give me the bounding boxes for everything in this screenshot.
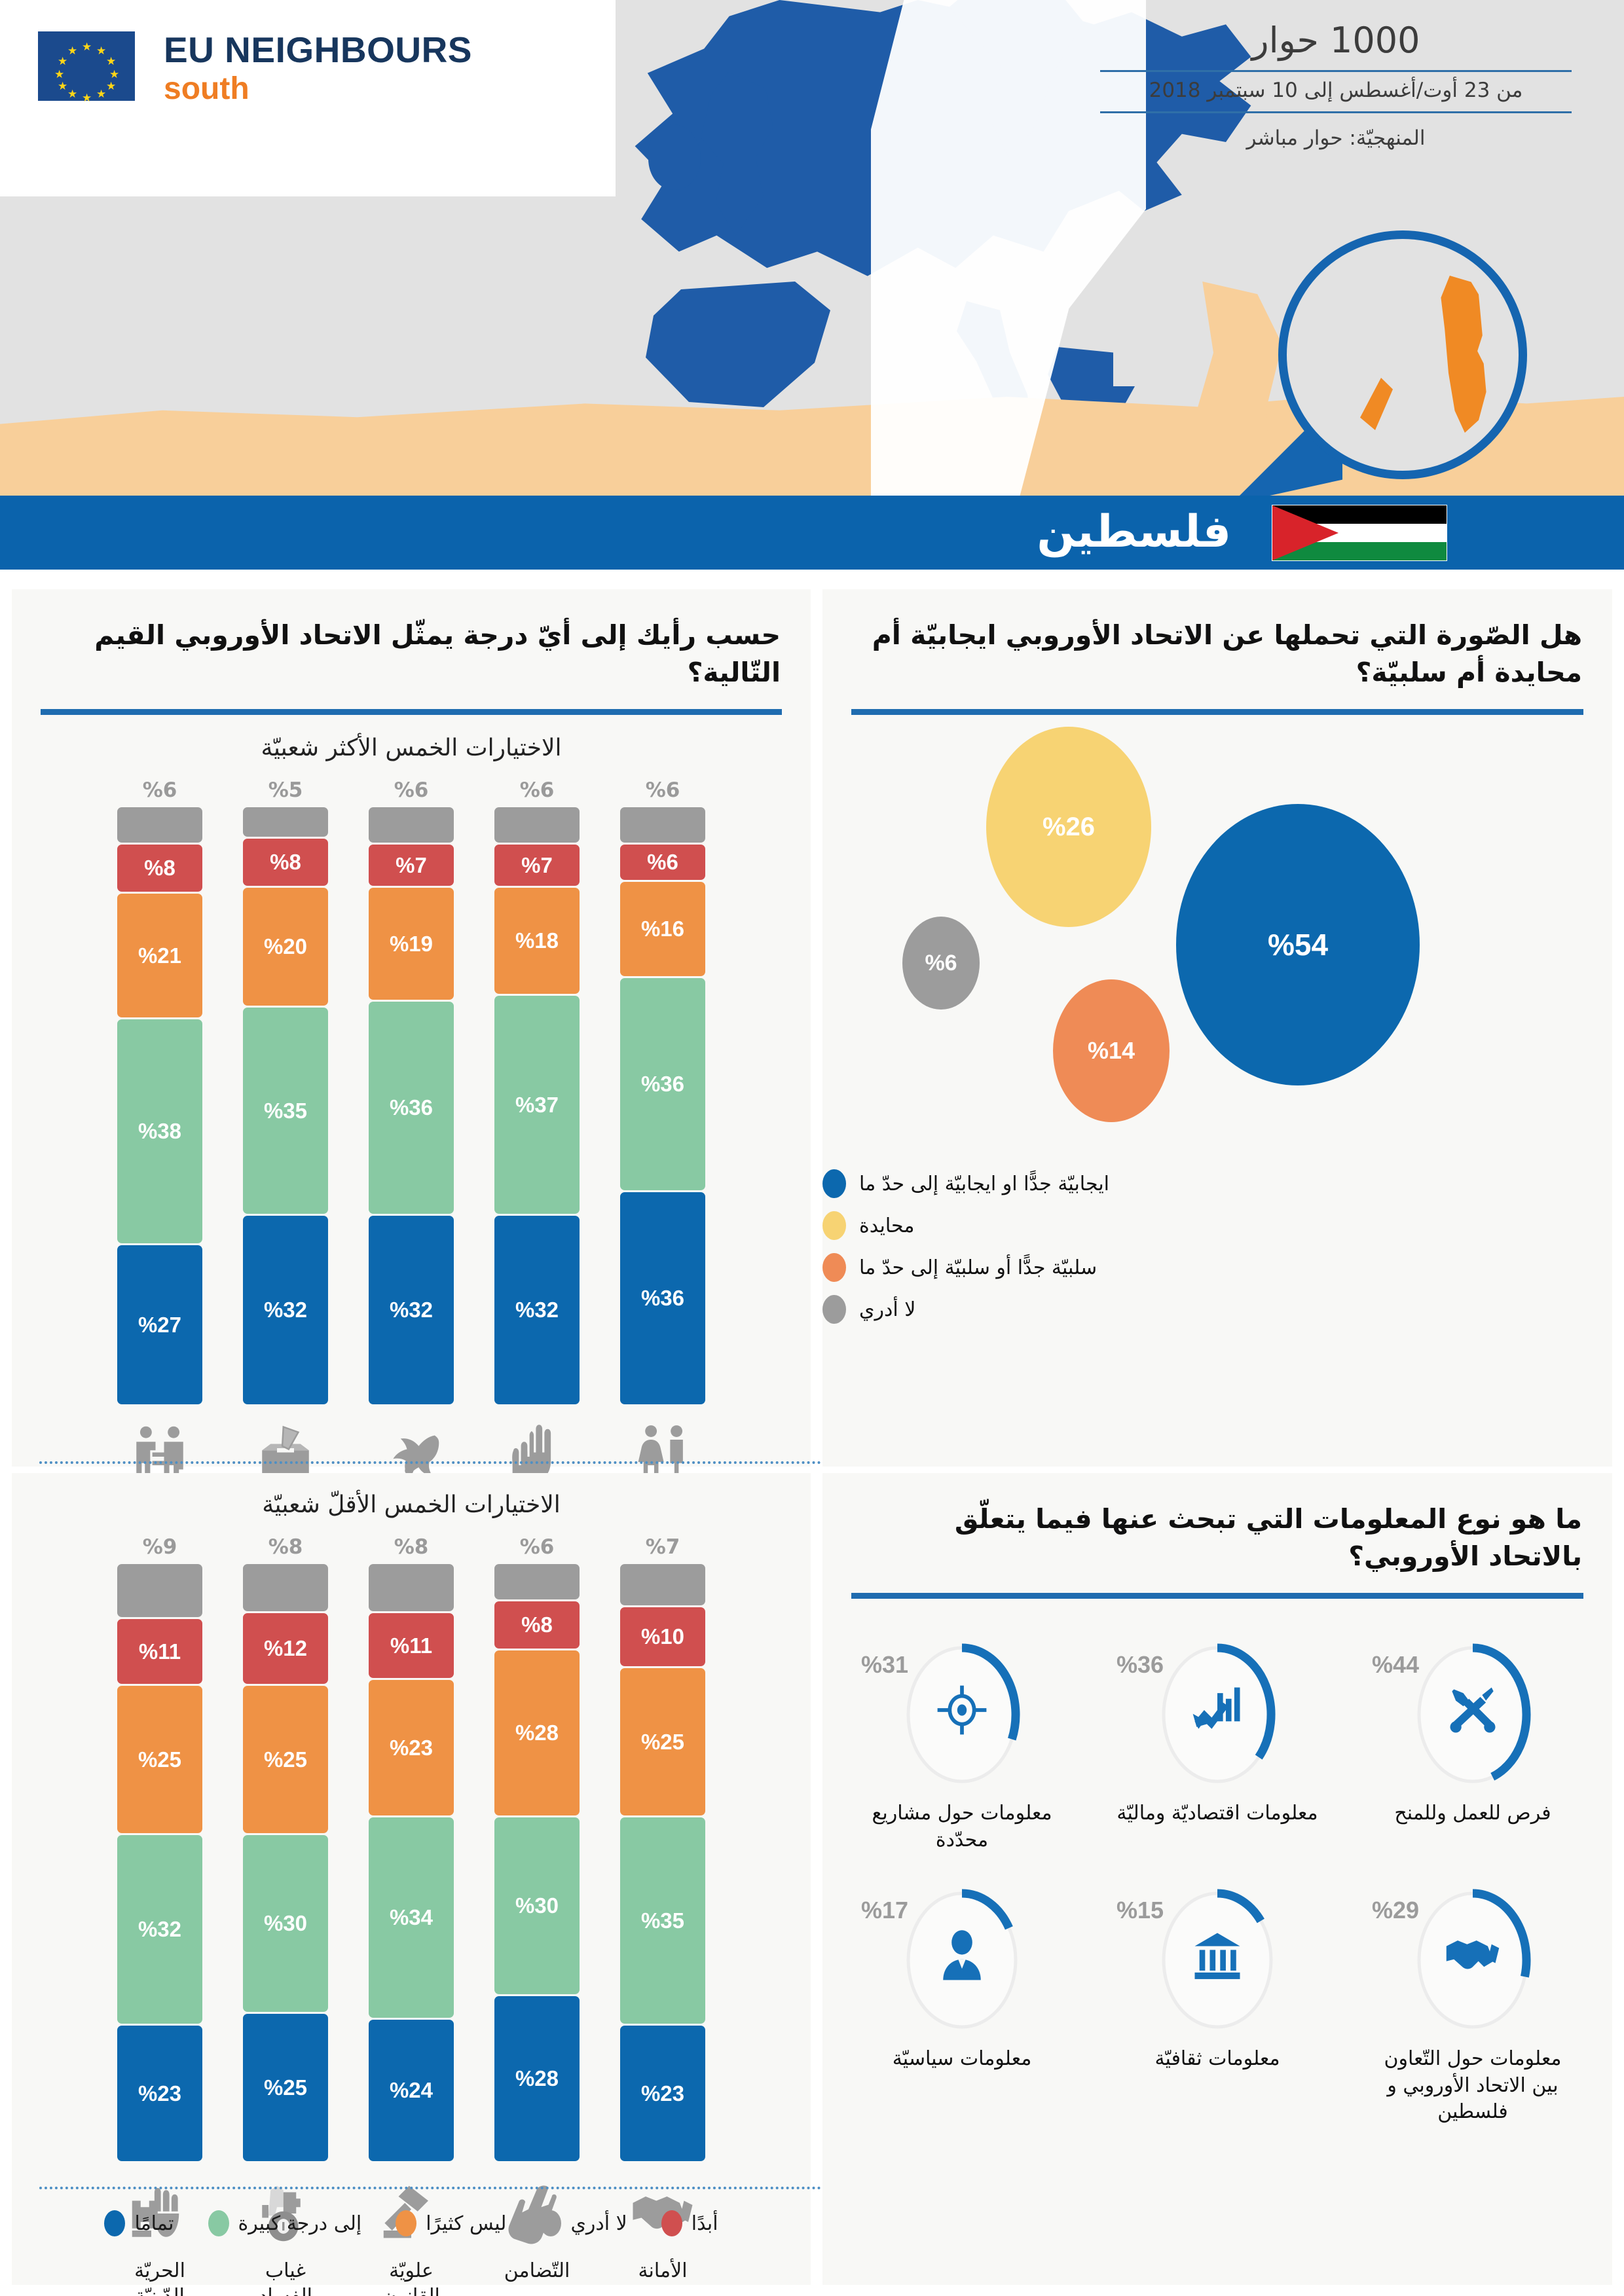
header-map-banner: ★ ★ ★ ★ ★ ★ ★ ★ ★ ★ ★ ★ EU NEIGHBOURS so… [0,0,1624,498]
gauge-percent-label: %15 [1116,1897,1164,1924]
bar-stack: %10%25%35%23 [620,1564,705,2161]
category-label: علويّة القانون [369,2258,454,2296]
bar-segment: %25 [243,1686,328,1833]
gauge-percent-label: %31 [861,1651,908,1679]
legend-item: إلى درجة كبيرة [208,2210,362,2236]
legend-item: أبدًا [661,2210,718,2236]
bar-column: %7%10%25%35%23 [620,1535,705,2161]
bar-top-percent-label: %9 [143,1535,177,1559]
category-cell: غياب الفساد [243,2179,328,2296]
eu-flag-icon: ★ ★ ★ ★ ★ ★ ★ ★ ★ ★ ★ ★ [38,31,135,101]
gauge-category-label: معلومات سياسيّة [893,2046,1032,2073]
bar-segment [243,807,328,837]
brand-subtitle: south [164,71,249,107]
legend-item: لا أدري [540,2210,627,2236]
gauge-category-label: معلومات حول مشاريع محدّدة [857,1800,1067,1853]
legend-label: أبدًا [692,2212,718,2235]
bar-segment: %32 [117,1835,202,2024]
bar-stack: %11%23%34%24 [369,1564,454,2161]
bar-segment: %18 [494,888,580,994]
bar-column: %8%12%25%30%25 [243,1535,328,2161]
bar-segment: %37 [494,996,580,1214]
gauge-percent-label: %44 [1372,1651,1419,1679]
legend-color-dot [822,1295,846,1324]
gauge-category-label: فرص للعمل وللمنح [1394,1800,1551,1827]
divider [851,709,1583,715]
legend-container: تمامًاإلى درجة كبيرةليس كثيرًالا أدريأبد… [12,2206,811,2236]
legend-color-dot [208,2210,229,2236]
legend-color-dot [822,1253,846,1282]
bar-stack: %8%20%35%32 [243,807,328,1404]
bar-segment: %34 [369,1817,454,2018]
bar-segment [243,1564,328,1611]
bar-segment: %23 [369,1680,454,1815]
bubble-value-label: %6 [925,951,957,976]
bar-chart-legend: تمامًاإلى درجة كبيرةليس كثيرًالا أدريأبد… [12,2206,811,2236]
legend-color-dot [661,2210,682,2236]
bar-segment [369,1564,454,1611]
bar-segment: %35 [620,1817,705,2024]
bar-segment: %35 [243,1008,328,1214]
bar-segment: %25 [243,2014,328,2161]
country-name: فلسطين [1037,506,1231,558]
radial-gauge-grid: %31معلومات حول مشاريع محدّدة %36معلومات … [822,1599,1612,2126]
question-title-information: ما هو نوع المعلومات التي تبحث عنها فيما … [822,1473,1612,1575]
palestine-map-inset-icon [1278,230,1527,479]
bar-segment: %36 [620,978,705,1190]
panel-values-least-popular: الاختيارات الخمس الأقلّ شعبيّة %9%11%25%… [12,1473,811,2285]
gauge-percent-label: %29 [1372,1897,1419,1924]
bubble-legend-item: محايدة [822,1211,1612,1240]
legend-label: ايجابيّة جدًّا او ايجابيّة إلى حدّ ما [859,1173,1109,1195]
bar-segment: %28 [494,1650,580,1815]
bar-segment: %11 [117,1619,202,1684]
bar-top-percent-label: %6 [143,778,177,802]
bar-segment: %6 [620,845,705,880]
palestine-flag-icon [1272,505,1447,561]
bar-segment: %38 [117,1019,202,1243]
bar-segment: %19 [369,888,454,1000]
bubble-legend-item: لا أدري [822,1295,1612,1324]
bar-segment: %32 [243,1216,328,1404]
bubble-3: %14 [1053,979,1170,1122]
legend-item: تمامًا [104,2210,174,2236]
bar-top-percent-label: %5 [268,778,303,802]
bar-segment: %12 [243,1613,328,1684]
bank-icon [1119,1925,1316,1986]
bar-top-percent-label: %6 [646,778,680,802]
category-cell: علويّة القانون [369,2179,454,2296]
category-label: غياب الفساد [243,2258,328,2296]
legend-color-dot [104,2210,125,2236]
bar-stack: %6%16%36%36 [620,807,705,1404]
bar-top-percent-label: %6 [520,778,555,802]
bar-stack: %11%25%32%23 [117,1564,202,2161]
bar-segment: %30 [494,1817,580,1994]
legend-label: ليس كثيرًا [426,2212,506,2235]
bar-segment [369,807,454,843]
bar-segment [620,1564,705,1605]
handshake-icon [1375,1925,1571,1986]
bar-column: %5%8%20%35%32 [243,778,328,1404]
gauge-dial: %31 [864,1634,1060,1798]
divider [41,709,782,715]
header-stats: 1000 حوار من 23 أوت/أغسطس إلى 10 سبتمبر … [1100,20,1572,150]
bar-column: %6%7%19%36%32 [369,778,454,1404]
gauge-dial: %36 [1119,1634,1316,1798]
category-label: التّضامن [494,2258,580,2284]
gauge-cell: %36معلومات اقتصاديّة وماليّة [1113,1634,1322,1853]
category-cell: الأمانة [620,2179,705,2296]
bar-segment: %36 [369,1002,454,1214]
gauge-cell: %29معلومات حول التّعاون بين الاتحاد الأو… [1368,1880,1578,2126]
bar-segment: %32 [369,1216,454,1404]
bar-stack: %7%19%36%32 [369,807,454,1404]
subtitle-least-popular: الاختيارات الخمس الأقلّ شعبيّة [12,1473,811,1518]
bar-segment [620,807,705,843]
country-title-bar: فلسطين [0,496,1624,570]
legend-color-dot [822,1211,846,1240]
legend-label: إلى درجة كبيرة [238,2212,362,2235]
bar-top-percent-label: %6 [394,778,429,802]
bar-column: %8%11%23%34%24 [369,1535,454,2161]
bubble-4: %6 [902,917,980,1010]
bar-top-percent-label: %7 [646,1535,680,1559]
bubble-value-label: %54 [1268,927,1328,962]
divider [851,1593,1583,1599]
category-label: الأمانة [620,2258,705,2284]
bar-segment: %11 [369,1613,454,1678]
gauge-category-label: معلومات ثقافيّة [1154,2046,1280,2073]
bar-segment: %25 [117,1686,202,1833]
legend-color-dot [396,2210,416,2236]
bar-column: %6%8%28%30%28 [494,1535,580,2161]
bar-top-percent-label: %6 [520,1535,555,1559]
bar-segment: %32 [494,1216,580,1404]
bar-segment: %36 [620,1192,705,1404]
bar-segment: %7 [494,845,580,886]
bar-top-percent-label: %8 [268,1535,303,1559]
bubble-chart-eu-image: %54%26%14%6 [822,715,1612,1160]
question-title-values: حسب رأيك إلى أيّ درجة يمثّل الاتحاد الأو… [12,589,811,691]
survey-date-range: من 23 أوت/أغسطس إلى 10 سبتمبر 2018 [1100,79,1572,107]
gauge-dial: %17 [864,1880,1060,2043]
panel-eu-image-perception: هل الصّورة التي تحملها عن الاتحاد الأورو… [822,589,1612,1467]
legend-label: لا أدري [859,1298,915,1321]
bar-segment: %7 [369,845,454,886]
bar-segment: %21 [117,894,202,1017]
bubble-value-label: %14 [1088,1037,1135,1065]
bar-segment: %27 [117,1245,202,1404]
tools-icon [1375,1680,1571,1740]
interviews-count: 1000 حوار [1100,20,1572,66]
bar-column: %6%7%18%37%32 [494,778,580,1404]
west-bank-shape [1432,276,1495,433]
bar-segment: %10 [620,1607,705,1666]
bubble-1: %54 [1176,804,1420,1085]
infographic-page: ★ ★ ★ ★ ★ ★ ★ ★ ★ ★ ★ ★ EU NEIGHBOURS so… [0,0,1624,2296]
category-label: الحريّة الدّينيّة [117,2258,202,2296]
gauge-cell: %44فرص للعمل وللمنح [1368,1634,1578,1853]
gauge-dial: %44 [1375,1634,1571,1798]
stacked-bar-chart-least-popular: %9%11%25%32%23%8%12%25%30%25%8%11%23%34%… [12,1518,811,2161]
bar-segment [117,807,202,843]
gauge-percent-label: %17 [861,1897,908,1924]
bar-segment [117,1564,202,1617]
stacked-bar-chart-most-popular: %6%8%21%38%27%5%8%20%35%32%6%7%19%36%32%… [12,761,811,1404]
bar-segment: %8 [494,1601,580,1649]
divider [1100,111,1572,113]
legend-label: تمامًا [134,2212,174,2235]
bar-stack: %8%21%38%27 [117,807,202,1404]
bar-segment: %8 [243,839,328,886]
gauge-cell: %17معلومات سياسيّة [857,1880,1067,2126]
bubble-2: %26 [986,727,1151,927]
bar-top-percent-label: %8 [394,1535,429,1559]
bar-segment: %30 [243,1835,328,2012]
ireland-shape [648,124,701,190]
bubble-value-label: %26 [1043,812,1095,842]
subtitle-most-popular: الاختيارات الخمس الأكثر شعبيّة [12,715,811,761]
category-cell: الحريّة الدّينيّة [117,2179,202,2296]
gauge-cell: %15معلومات ثقافيّة [1113,1880,1322,2126]
growth-chart-icon [1119,1680,1316,1740]
gauge-category-label: معلومات اقتصاديّة وماليّة [1116,1800,1318,1827]
bar-stack: %12%25%30%25 [243,1564,328,2161]
bar-segment: %16 [620,882,705,976]
bar-column: %6%8%21%38%27 [117,778,202,1404]
bar-segment: %28 [494,1996,580,2161]
category-cell: التّضامن [494,2179,580,2296]
bar-stack: %8%28%30%28 [494,1564,580,2161]
bar-column: %6%6%16%36%36 [620,778,705,1404]
gauge-cell: %31معلومات حول مشاريع محدّدة [857,1634,1067,1853]
bar-segment [494,807,580,843]
bar-segment: %23 [620,2026,705,2161]
methodology-text: المنهجيّة: حوار مباشر [1100,120,1572,150]
bar-segment: %8 [117,845,202,892]
bubble-legend-item: ايجابيّة جدًّا او ايجابيّة إلى حدّ ما [822,1169,1612,1198]
bar-segment: %23 [117,2026,202,2161]
legend-item: ليس كثيرًا [396,2210,506,2236]
gauge-dial: %29 [1375,1880,1571,2043]
target-icon [864,1680,1060,1740]
gauge-dial: %15 [1119,1880,1316,2043]
brand-title: EU NEIGHBOURS [164,29,472,71]
gauge-category-label: معلومات حول التّعاون بين الاتحاد الأوروب… [1368,2046,1578,2126]
panel-information-sought: ما هو نوع المعلومات التي تبحث عنها فيما … [822,1473,1612,2285]
bar-stack: %7%18%37%32 [494,807,580,1404]
bar-segment: %24 [369,2020,454,2161]
divider [1100,70,1572,72]
bar-segment: %20 [243,888,328,1006]
panel-values-most-popular: حسب رأيك إلى أيّ درجة يمثّل الاتحاد الأو… [12,589,811,1467]
legend-color-dot [540,2210,561,2236]
bar-segment: %25 [620,1668,705,1815]
legend-label: سلبيّة جدًّا أو سلبيّة إلى حدّ ما [859,1256,1097,1279]
legend-color-dot [822,1169,846,1198]
legend-label: محايدة [859,1214,914,1237]
gauge-percent-label: %36 [1116,1651,1164,1679]
bar-column: %9%11%25%32%23 [117,1535,202,2161]
businessman-icon [864,1925,1060,1986]
bubble-legend-item: سلبيّة جدًّا أو سلبيّة إلى حدّ ما [822,1253,1612,1282]
bar-segment [494,1564,580,1599]
question-title-image: هل الصّورة التي تحملها عن الاتحاد الأورو… [822,589,1612,691]
gaza-shape [1360,378,1393,430]
bubble-chart-legend: ايجابيّة جدًّا او ايجابيّة إلى حدّ مامحا… [822,1160,1612,1324]
legend-label: لا أدري [570,2212,627,2235]
